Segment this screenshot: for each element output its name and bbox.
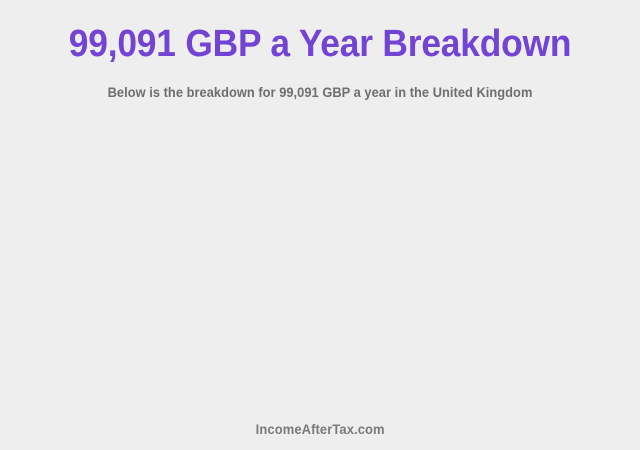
breakdown-chart-area (0, 112, 640, 410)
page-root: 99,091 GBP a Year Breakdown Below is the… (0, 0, 640, 450)
page-footer: IncomeAfterTax.com (0, 421, 640, 439)
site-watermark: IncomeAfterTax.com (256, 422, 385, 438)
page-subtitle: Below is the breakdown for 99,091 GBP a … (16, 84, 624, 101)
page-title: 99,091 GBP a Year Breakdown (22, 21, 617, 67)
